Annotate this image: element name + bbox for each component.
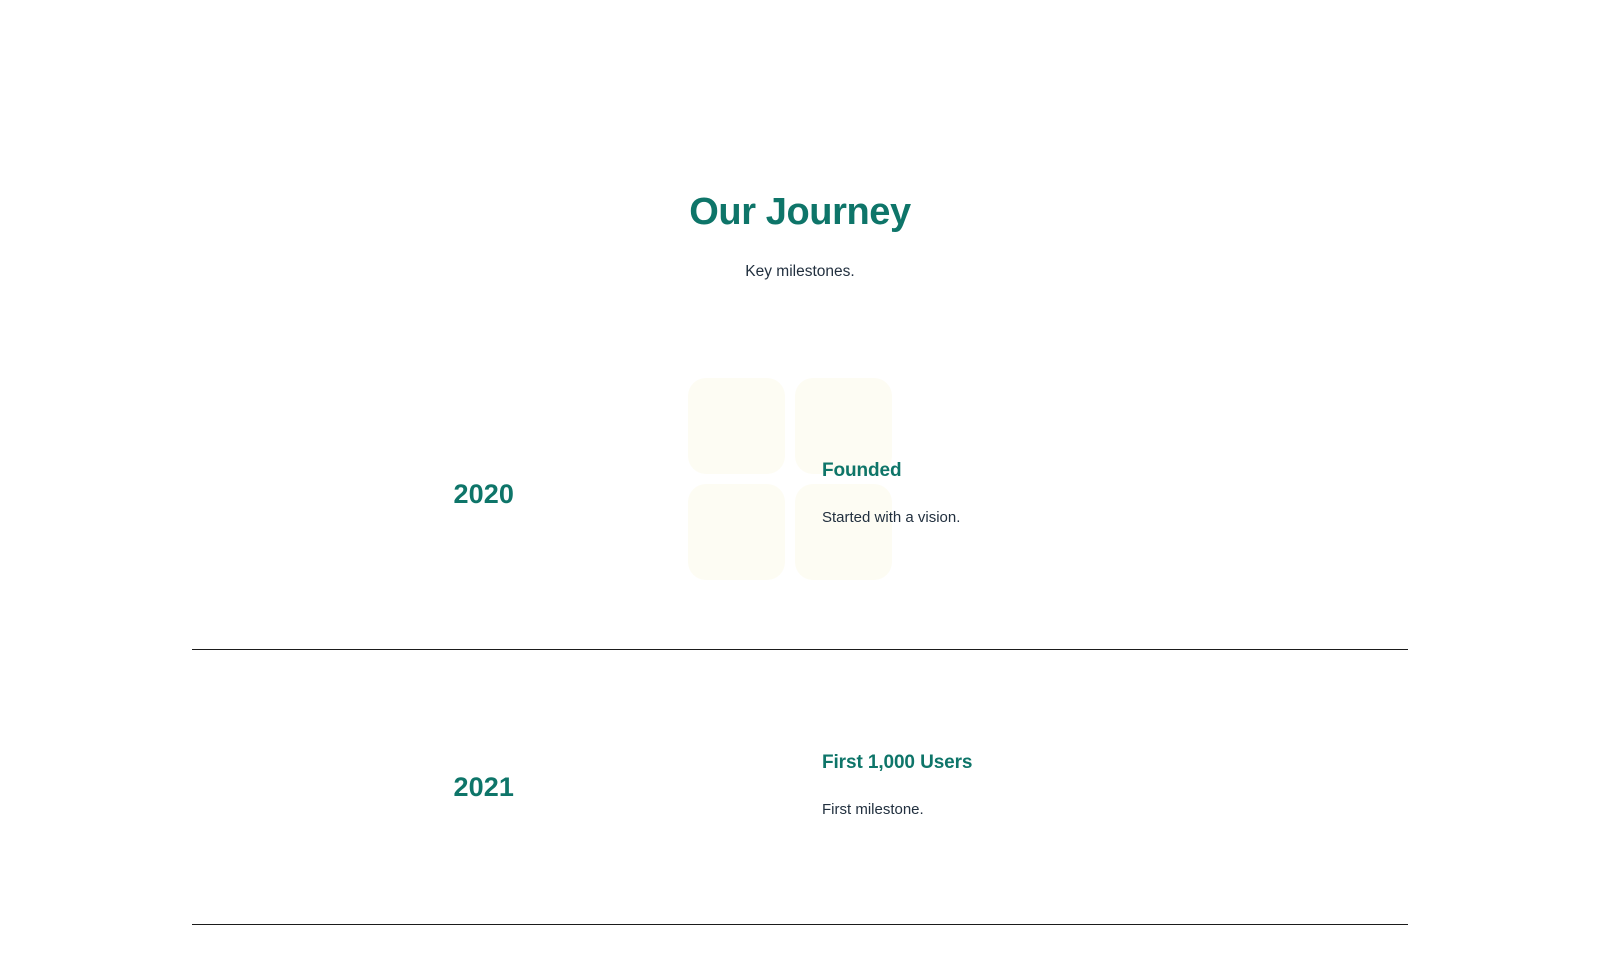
milestone-description: Started with a vision. [822,507,1408,530]
timeline-year-column: 2020 [192,481,522,508]
timeline-row[interactable]: 2020 Founded Started with a vision. [192,340,1408,650]
timeline-list: 2020 Founded Started with a vision. 2021… [192,340,1408,925]
timeline-year-column: 2021 [192,774,522,801]
section-header: Our Journey Key milestones. [192,190,1408,283]
milestone-title: Founded [822,460,1408,483]
timeline-year-label: 2020 [192,481,514,508]
timeline-detail-column: Founded Started with a vision. [522,460,1408,529]
page-root: Our Journey Key milestones. 2020 Founded… [0,0,1600,978]
page-title: Our Journey [192,190,1408,235]
milestone-description: First milestone. [822,799,1408,822]
milestone-title: First 1,000 Users [822,752,1408,775]
timeline-row[interactable]: 2021 First 1,000 Users First milestone. [192,650,1408,925]
timeline-detail-column: First 1,000 Users First milestone. [522,752,1408,821]
page-subtitle: Key milestones. [192,261,1408,283]
timeline-year-label: 2021 [192,774,514,801]
